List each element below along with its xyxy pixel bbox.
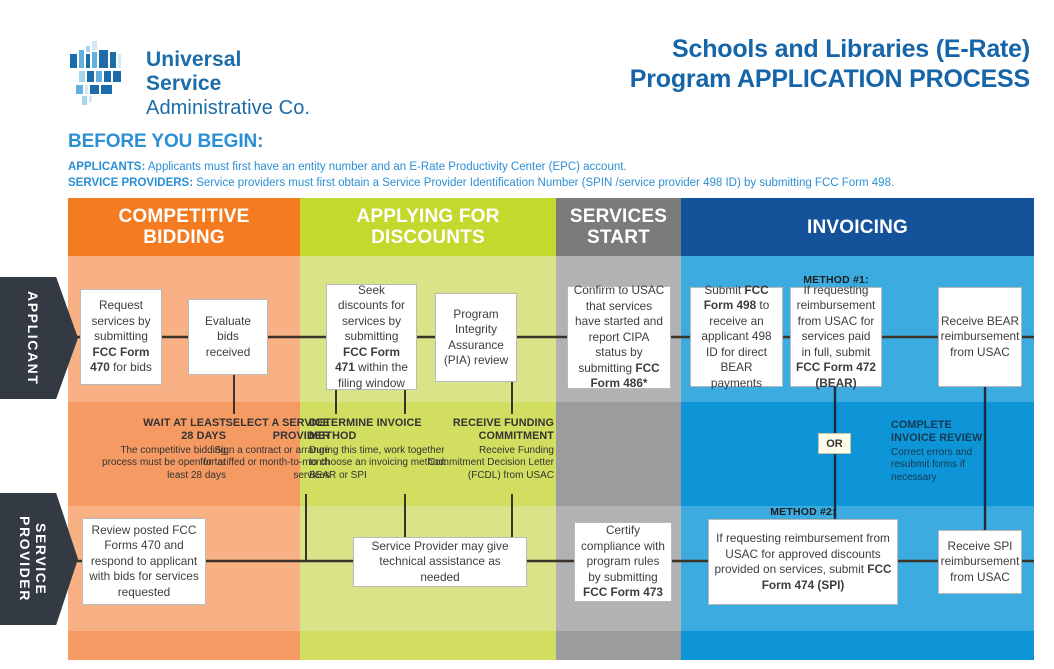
- box-bear-472[interactable]: If requesting reimbursement from USAC fo…: [790, 287, 882, 387]
- service-providers-label: SERVICE PROVIDERS:: [68, 177, 193, 189]
- method-2-label: METHOD #2:: [708, 506, 898, 518]
- note-complete-invoice-review-body: Correct errors and resubmit forms if nec…: [891, 447, 972, 483]
- note-receive-funding-commitment: RECEIVE FUNDING COMMITMENT Receive Fundi…: [426, 417, 554, 482]
- providers-prereq-line: SERVICE PROVIDERS: Service providers mus…: [68, 175, 1028, 191]
- usac-logo-mark: [68, 40, 138, 106]
- service-providers-text: Service providers must first obtain a Se…: [193, 177, 894, 189]
- box-certify-473-form: FCC Form 473: [583, 585, 663, 599]
- side-tab-applicant: APPLICANT: [0, 277, 78, 399]
- box-confirm-usac[interactable]: Confirm to USAC that services have start…: [567, 286, 671, 389]
- box-receive-spi-text: Receive SPI reimbursement from USAC: [941, 539, 1020, 586]
- side-tab-applicant-label: APPLICANT: [25, 291, 41, 386]
- logo-line-1: Universal Service: [146, 48, 318, 96]
- note-receive-funding-commitment-body: Receive Funding Commitment Decision Lett…: [428, 445, 554, 481]
- or-connector-chip: OR: [818, 433, 851, 454]
- box-bear-472-form: FCC Form 472 (BEAR): [796, 360, 876, 390]
- page-header: Universal Service Administrative Co. Sch…: [0, 0, 1054, 120]
- box-tech-assistance[interactable]: Service Provider may give technical assi…: [353, 537, 527, 587]
- box-pia-review[interactable]: Program Integrity Assurance (PIA) review: [435, 293, 517, 382]
- note-complete-invoice-review: COMPLETE INVOICE REVIEW Correct errors a…: [891, 419, 999, 484]
- box-request-services-text2: for bids: [110, 360, 152, 374]
- box-review-470[interactable]: Review posted FCC Forms 470 and respond …: [82, 518, 206, 605]
- page-title-line-1: Schools and Libraries (E-Rate): [630, 34, 1030, 64]
- box-seek-discounts-text: Seek discounts for services by submittin…: [338, 283, 405, 344]
- box-review-470-text: Review posted FCC Forms 470 and respond …: [88, 523, 200, 601]
- before-you-begin-section: BEFORE YOU BEGIN: APPLICANTS: Applicants…: [68, 131, 1028, 191]
- note-complete-invoice-review-heading: COMPLETE INVOICE REVIEW: [891, 419, 999, 445]
- applicants-text: Applicants must first have an entity num…: [145, 161, 626, 173]
- box-evaluate-bids[interactable]: Evaluate bids received: [188, 299, 268, 375]
- box-pia-review-text: Program Integrity Assurance (PIA) review: [441, 307, 511, 369]
- box-bear-472-text: If requesting reimbursement from USAC fo…: [797, 283, 876, 359]
- box-submit-498[interactable]: Submit FCC Form 498 to receive an applic…: [690, 287, 783, 387]
- box-receive-spi[interactable]: Receive SPI reimbursement from USAC: [938, 530, 1022, 594]
- side-tab-service-provider-label: SERVICE PROVIDER: [17, 516, 49, 602]
- box-spi-474[interactable]: If requesting reimbursement from USAC fo…: [708, 519, 898, 605]
- box-tech-assistance-text: Service Provider may give technical assi…: [359, 539, 521, 586]
- application-process-diagram: COMPETITIVE BIDDING APPLYING FOR DISCOUN…: [68, 198, 1034, 660]
- applicants-label: APPLICANTS:: [68, 161, 145, 173]
- applicants-prereq-line: APPLICANTS: Applicants must first have a…: [68, 159, 1028, 175]
- box-request-services[interactable]: Request services by submitting FCC Form …: [80, 289, 162, 385]
- box-request-services-text: Request services by submitting: [91, 298, 150, 343]
- box-receive-bear[interactable]: Receive BEAR reimbursement from USAC: [938, 287, 1022, 387]
- page-title: Schools and Libraries (E-Rate) Program A…: [630, 34, 1030, 94]
- usac-logo: Universal Service Administrative Co.: [68, 40, 318, 106]
- logo-line-2: Administrative Co.: [146, 96, 318, 120]
- note-receive-funding-commitment-heading: RECEIVE FUNDING COMMITMENT: [426, 417, 554, 443]
- box-receive-bear-text: Receive BEAR reimbursement from USAC: [941, 314, 1020, 361]
- box-seek-discounts[interactable]: Seek discounts for services by submittin…: [326, 284, 417, 390]
- box-certify-473[interactable]: Certify compliance with program rules by…: [574, 522, 672, 602]
- page-title-line-2: Program APPLICATION PROCESS: [630, 64, 1030, 94]
- box-spi-474-text: If requesting reimbursement from USAC fo…: [714, 531, 889, 576]
- box-submit-498-text: Submit: [704, 283, 744, 297]
- side-tab-service-provider: SERVICE PROVIDER: [0, 493, 78, 625]
- box-certify-473-text: Certify compliance with program rules by…: [581, 523, 665, 584]
- before-you-begin-heading: BEFORE YOU BEGIN:: [68, 131, 1028, 153]
- box-evaluate-bids-text: Evaluate bids received: [194, 314, 262, 361]
